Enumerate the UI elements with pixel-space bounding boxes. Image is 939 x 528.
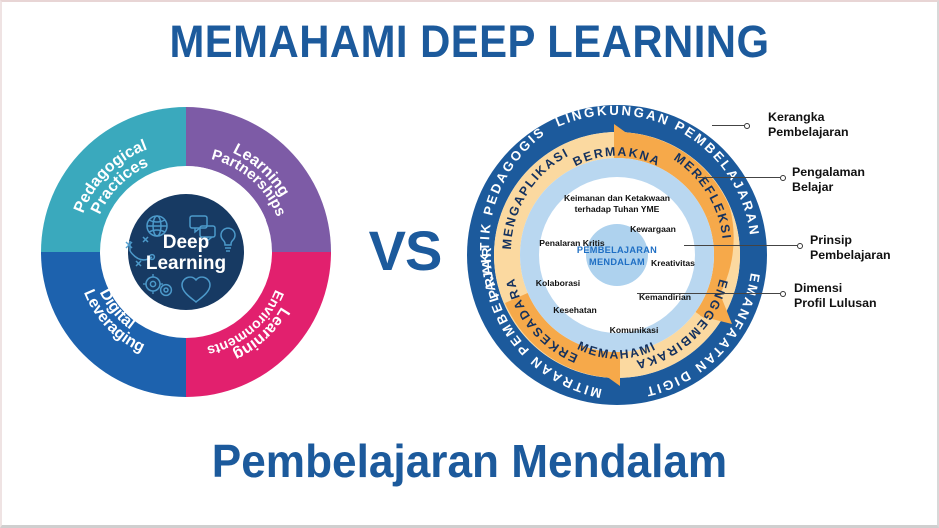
callout-line-pengalaman: [698, 177, 780, 178]
callout-line2: Profil Lulusan: [794, 296, 877, 311]
dimension-label-kolaborasi[interactable]: Kolaborasi: [536, 278, 580, 288]
deep-learning-title-line2: Learning: [146, 253, 226, 274]
callout-line-dimensi: [637, 293, 780, 294]
callout-group: Kerangka Pembelajaran Pengalaman Belajar…: [754, 102, 939, 342]
callout-line-kerangka: [712, 125, 744, 126]
right-diagram-pembelajaran-mendalam: PEMBELAJARAN MENDALAM PRAKTIK PEDAGOGIS …: [464, 102, 770, 408]
callout-line1: Pengalaman: [792, 165, 865, 180]
callout-line2: Pembelajaran: [810, 248, 891, 263]
callout-dot-kerangka: [744, 123, 750, 129]
core-label-line2: MENDALAM: [589, 257, 645, 267]
callout-dot-dimensi: [780, 291, 786, 297]
page-title-bottom: Pembelajaran Mendalam: [21, 434, 919, 488]
callout-line1: Kerangka: [768, 110, 849, 125]
image-frame: MEMAHAMI DEEP LEARNING: [0, 0, 939, 528]
versus-label: VS: [350, 218, 460, 283]
callout-line-prinsip: [684, 245, 797, 246]
dimension-label-kewargaan[interactable]: Kewargaan: [630, 224, 676, 234]
left-diagram-deep-learning: Deep Learning Pedagogical Practices Lear…: [40, 106, 332, 398]
callout-pengalaman-belajar[interactable]: Pengalaman Belajar: [792, 165, 865, 194]
callout-line2: Pembelajaran: [768, 125, 849, 140]
callout-dot-pengalaman: [780, 175, 786, 181]
callout-dot-prinsip: [797, 243, 803, 249]
page-title-top: MEMAHAMI DEEP LEARNING: [35, 16, 905, 68]
dimension-label-penalaran-kritis[interactable]: Penalaran Kritis: [539, 238, 605, 248]
dimension-label-kesehatan[interactable]: Kesehatan: [553, 305, 596, 315]
dimension-label-komunikasi[interactable]: Komunikasi: [610, 325, 659, 335]
dimension-label-keimanan-line1[interactable]: Keimanan dan Ketakwaan: [564, 193, 670, 203]
dimension-label-keimanan-line2[interactable]: terhadap Tuhan YME: [575, 204, 660, 214]
callout-line1: Dimensi: [794, 281, 877, 296]
callout-kerangka-pembelajaran[interactable]: Kerangka Pembelajaran: [768, 110, 849, 139]
dimension-label-kreativitas[interactable]: Kreativitas: [651, 258, 695, 268]
callout-line1: Prinsip: [810, 233, 891, 248]
callout-dimensi-profil-lulusan[interactable]: Dimensi Profil Lulusan: [794, 281, 877, 310]
callout-line2: Belajar: [792, 180, 865, 195]
infographic-stage: MEMAHAMI DEEP LEARNING: [2, 2, 937, 525]
deep-learning-title-line1: Deep: [163, 232, 209, 253]
callout-prinsip-pembelajaran[interactable]: Prinsip Pembelajaran: [810, 233, 891, 262]
